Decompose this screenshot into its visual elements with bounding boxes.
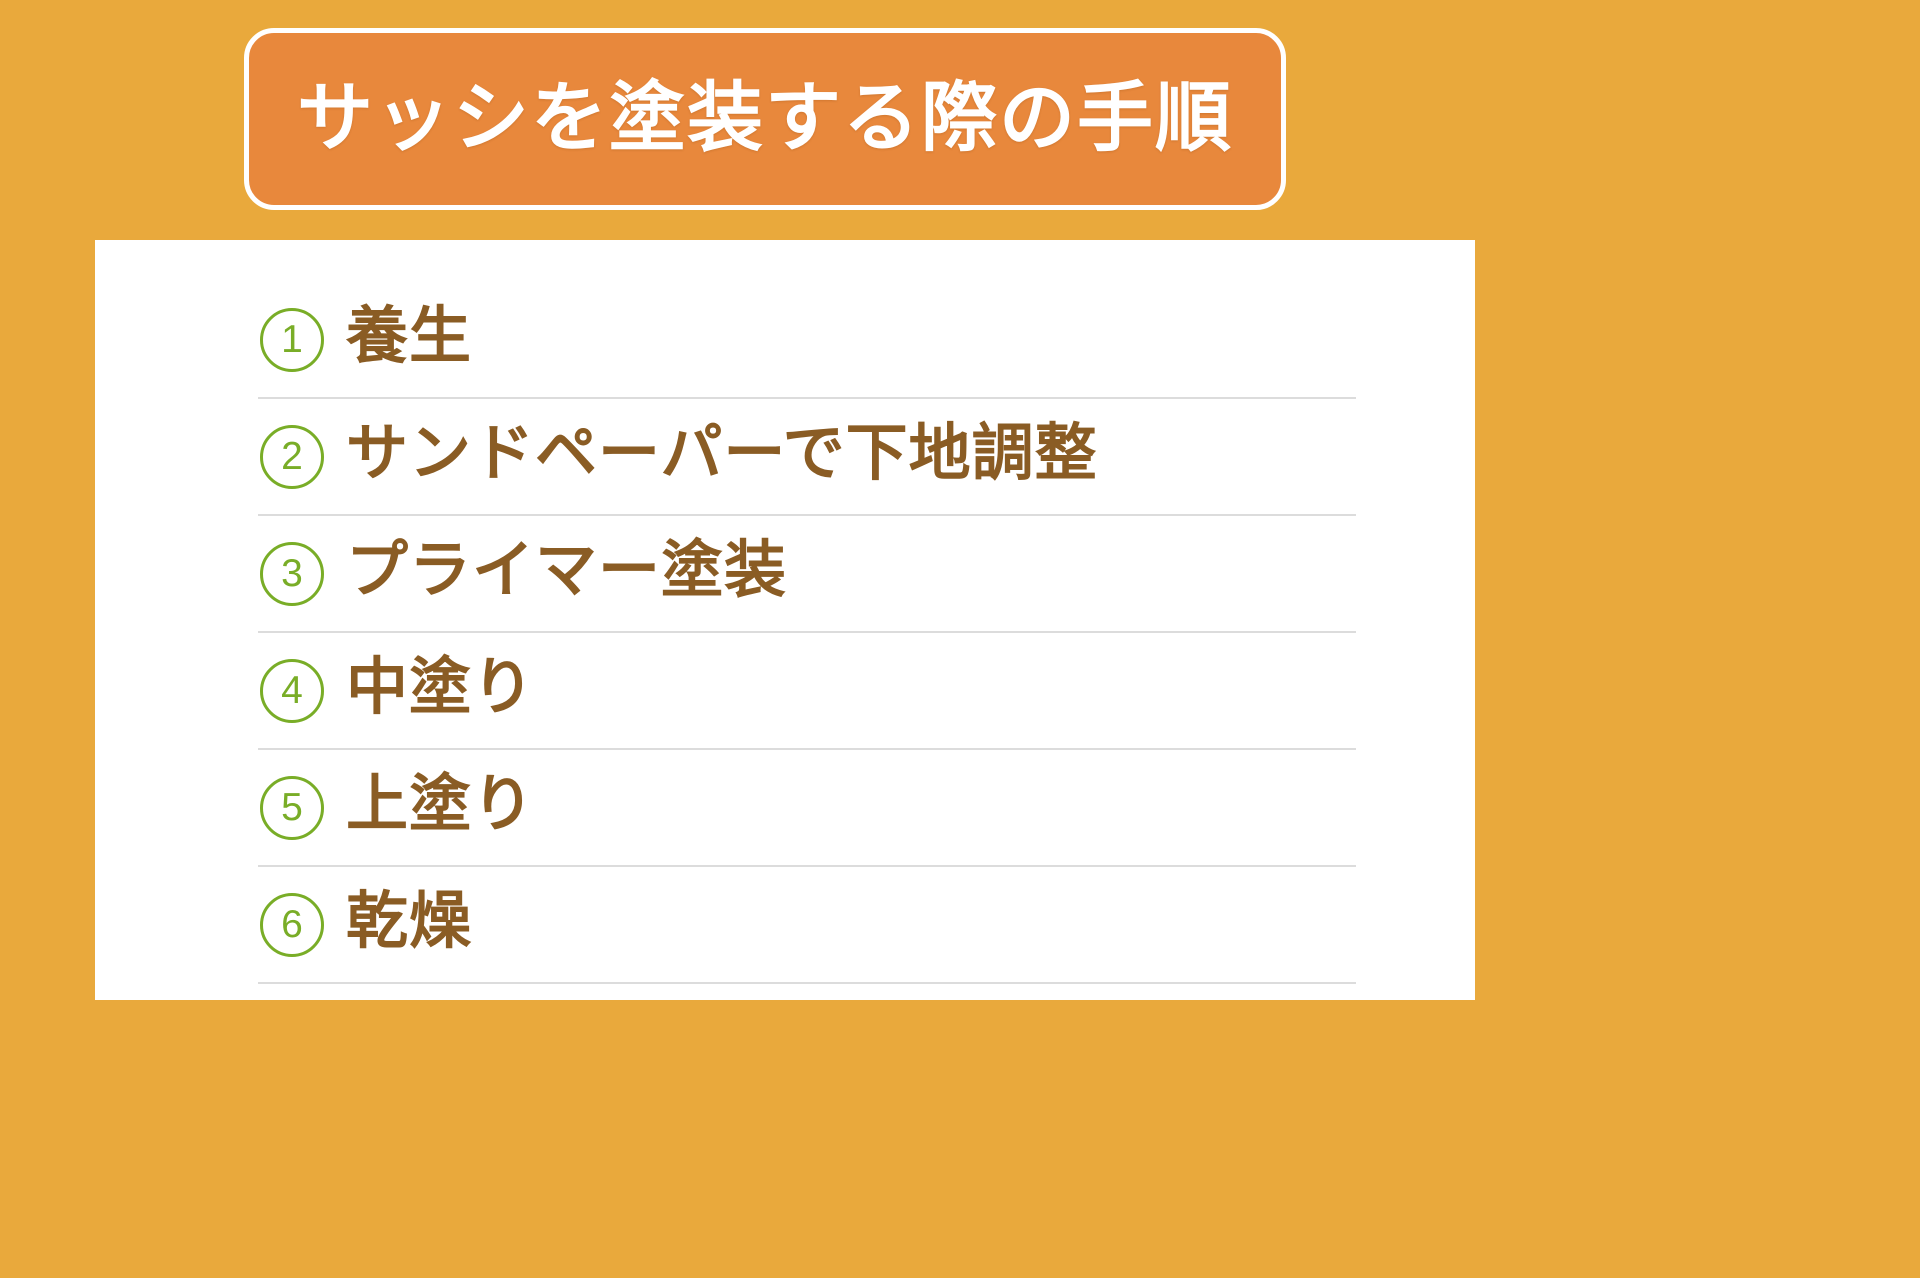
- step-label: 乾燥: [346, 889, 472, 960]
- step-label: 中塗り: [346, 655, 535, 726]
- title-banner: サッシを塗装する際の手順: [244, 28, 1286, 210]
- step-number-badge: 1: [260, 308, 324, 372]
- step-label: 養生: [346, 304, 472, 375]
- step-number-badge: 2: [260, 425, 324, 489]
- step-number-badge: 3: [260, 542, 324, 606]
- step-label: プライマー塗装: [346, 538, 787, 609]
- list-item: 4 中塗り: [258, 633, 1356, 750]
- steps-list: 1 養生 2 サンドペーパーで下地調整 3 プライマー塗装 4 中塗り 5 上塗…: [258, 282, 1356, 984]
- step-number-badge: 6: [260, 893, 324, 957]
- page-title: サッシを塗装する際の手順: [297, 81, 1233, 157]
- list-item: 1 養生: [258, 282, 1356, 399]
- step-number-badge: 5: [260, 776, 324, 840]
- step-number-badge: 4: [260, 659, 324, 723]
- step-label: サンドペーパーで下地調整: [346, 421, 1098, 492]
- list-item: 3 プライマー塗装: [258, 516, 1356, 633]
- steps-card: 1 養生 2 サンドペーパーで下地調整 3 プライマー塗装 4 中塗り 5 上塗…: [95, 240, 1475, 1000]
- list-item: 6 乾燥: [258, 867, 1356, 984]
- step-label: 上塗り: [346, 772, 535, 843]
- infographic-root: サッシを塗装する際の手順 1 養生 2 サンドペーパーで下地調整 3 プライマー…: [0, 0, 1920, 1278]
- list-item: 5 上塗り: [258, 750, 1356, 867]
- list-item: 2 サンドペーパーで下地調整: [258, 399, 1356, 516]
